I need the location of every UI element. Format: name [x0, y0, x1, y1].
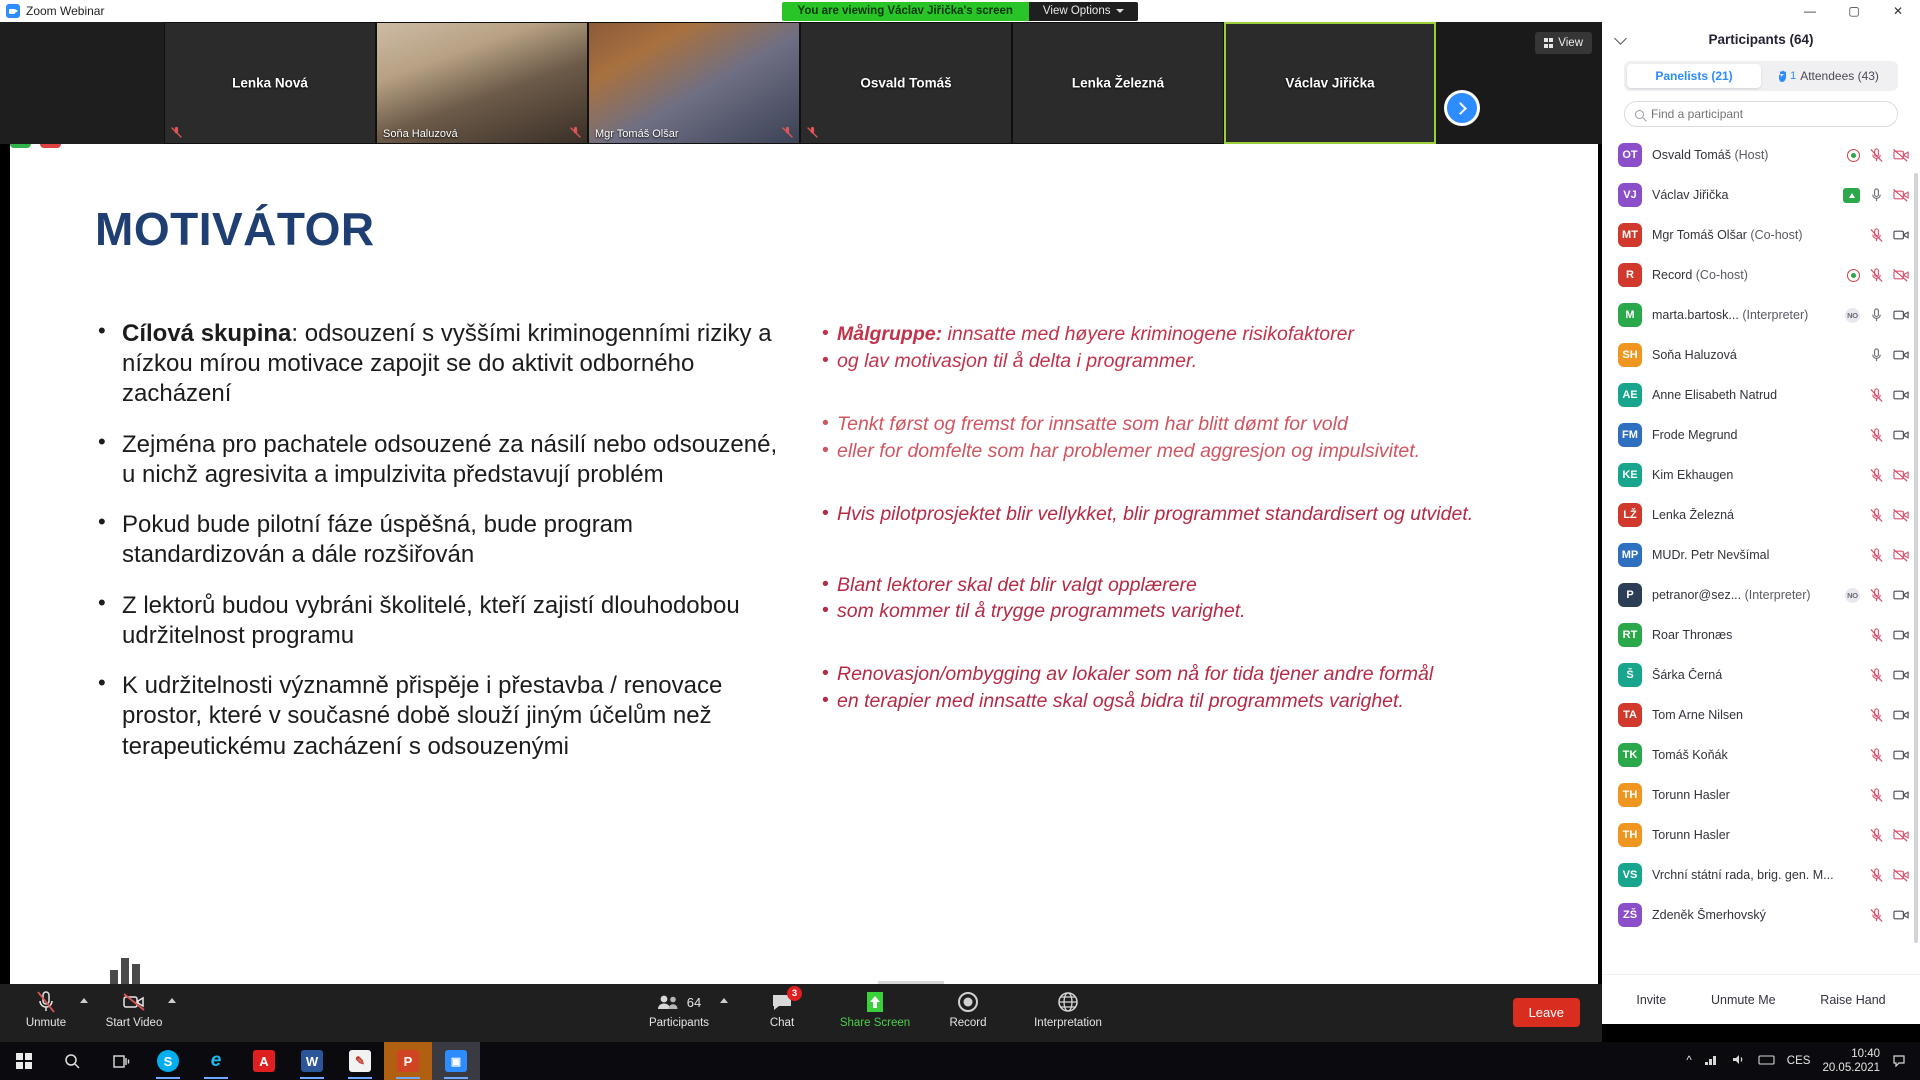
participant-name: Tomáš Koňák	[1652, 748, 1859, 762]
participant-status-icons	[1869, 428, 1908, 442]
share-screen-icon	[864, 990, 886, 1014]
chat-button[interactable]: 3 Chat	[750, 984, 814, 1029]
participant-row[interactable]: RTRoar Thronæs	[1602, 615, 1920, 655]
participant-name: Mgr Tomáš Olšar (Co-host)	[1652, 228, 1859, 242]
windows-start-icon[interactable]	[0, 1042, 48, 1080]
participant-name: Soňa Haluzová	[1652, 348, 1859, 362]
video-on-icon[interactable]	[1893, 348, 1908, 362]
avatar: TA	[1618, 703, 1642, 727]
chat-label: Chat	[770, 1017, 794, 1029]
participant-row[interactable]: MTMgr Tomáš Olšar (Co-host)	[1602, 215, 1920, 255]
record-label: Record	[949, 1017, 986, 1029]
video-off-icon[interactable]	[1893, 188, 1908, 202]
mic-on-icon[interactable]	[1869, 348, 1884, 362]
participant-row[interactable]: LŽLenka Železná	[1602, 495, 1920, 535]
language-indicator[interactable]: CES	[1787, 1055, 1811, 1067]
participant-row[interactable]: OTOsvald Tomáš (Host)	[1602, 135, 1920, 175]
interpreter-language-chip: NO	[1845, 588, 1860, 603]
avatar: ZŠ	[1618, 903, 1642, 927]
mic-muted-icon	[569, 126, 582, 139]
translation-line: Blant lektorer skal det blir valgt opplæ…	[822, 572, 1552, 599]
participant-role: (Interpreter)	[1739, 308, 1808, 322]
participants-icon: 64	[657, 990, 701, 1014]
grid-view-icon	[1544, 38, 1554, 48]
record-button[interactable]: Record	[936, 984, 1000, 1029]
avatar: VS	[1618, 863, 1642, 887]
mic-muted-icon[interactable]	[1869, 788, 1884, 802]
toolbar-left-group: Unmute Start Video	[14, 984, 176, 1029]
minimize-button[interactable]: —	[1788, 0, 1832, 22]
participant-row[interactable]: FMFrode Megrund	[1602, 415, 1920, 455]
view-options-button[interactable]: View Options	[1029, 2, 1139, 21]
translation-group: Målgruppe: innsatte med høyere kriminoge…	[822, 321, 1552, 375]
network-icon[interactable]	[1704, 1053, 1719, 1069]
volume-icon[interactable]	[1731, 1053, 1746, 1069]
translation-line: Målgruppe: innsatte med høyere kriminoge…	[822, 321, 1552, 348]
video-off-icon[interactable]	[1893, 828, 1908, 842]
tab-panelists[interactable]: Panelists (21)	[1627, 64, 1761, 88]
participant-row[interactable]: VSVrchní státní rada, brig. gen. M...	[1602, 855, 1920, 895]
translation-group: Blant lektorer skal det blir valgt opplæ…	[822, 572, 1552, 626]
participants-panel-title: Participants (64)	[1708, 32, 1813, 47]
video-off-icon	[122, 990, 146, 1014]
participant-row[interactable]: Ppetranor@sez... (Interpreter)NO	[1602, 575, 1920, 615]
mic-muted-icon[interactable]	[1869, 628, 1884, 642]
video-tile-osvald-tomas[interactable]: Osvald Tomáš	[800, 22, 1012, 144]
translation-line: som kommer til å trygge programmets vari…	[822, 598, 1552, 625]
video-on-icon[interactable]	[1893, 588, 1908, 602]
slide-norwegian-translation: Målgruppe: innsatte med høyere kriminoge…	[822, 321, 1552, 751]
invite-button[interactable]: Invite	[1624, 987, 1678, 1013]
participants-tabs: Panelists (21) 1 Attendees (43)	[1624, 61, 1898, 91]
participant-row[interactable]: KEKim Ekhaugen	[1602, 455, 1920, 495]
video-tile-name: Lenka Nová	[165, 76, 375, 91]
start-video-label: Start Video	[106, 1017, 163, 1029]
translation-group: Renovasjon/ombygging av lokaler som nå f…	[822, 661, 1552, 715]
translation-line: Hvis pilotprosjektet blir vellykket, bli…	[822, 501, 1552, 528]
video-tile-name: Osvald Tomáš	[801, 76, 1011, 91]
toolbar-center-group: 64 Participants 3 Chat	[640, 984, 1114, 1029]
avatar: RT	[1618, 623, 1642, 647]
screen-share-banner: You are viewing Václav Jiřička's screen …	[0, 0, 1920, 22]
translation-group: Hvis pilotprosjektet blir vellykket, bli…	[822, 501, 1552, 528]
participant-status-icons	[1869, 628, 1908, 642]
clock-date: 20.05.2021	[1822, 1061, 1880, 1075]
mic-muted-icon[interactable]	[1869, 548, 1884, 562]
list-item: Cílová skupina: odsouzení s vyššími krim…	[92, 319, 782, 410]
clock-time: 10:40	[1822, 1047, 1880, 1061]
video-on-icon[interactable]	[1893, 788, 1908, 802]
bullet-lead: Cílová skupina	[122, 320, 291, 347]
avatar: M	[1618, 303, 1642, 327]
search-input[interactable]	[1651, 107, 1887, 121]
shared-screen-area[interactable]: ✓ ⊘ MOTIVÁTOR Cílová skupina: odsouzení …	[10, 144, 1598, 986]
mic-muted-icon[interactable]	[1869, 428, 1884, 442]
participant-row[interactable]: THTorunn Hasler	[1602, 815, 1920, 855]
video-on-icon[interactable]	[1893, 388, 1908, 402]
stop-circle-icon[interactable]: ⊘	[40, 144, 61, 148]
bullet-text: Pokud bude pilotní fáze úspěšná, bude pr…	[122, 511, 633, 568]
view-options-label: View Options	[1043, 5, 1111, 17]
interpreter-language-chip: NO	[1845, 308, 1860, 323]
participant-row[interactable]: THTorunn Hasler	[1602, 775, 1920, 815]
close-button[interactable]: ✕	[1876, 0, 1920, 22]
system-tray: ^ CES 10:40 20.05.2021	[1686, 1042, 1920, 1080]
participant-status-icons	[1869, 468, 1908, 482]
translation-lead: Målgruppe:	[837, 323, 942, 345]
participant-status-icons	[1869, 668, 1908, 682]
slide-czech-bullets: Cílová skupina: odsouzení s vyššími krim…	[92, 319, 782, 782]
avatar: MP	[1618, 543, 1642, 567]
raise-hand-icon: 1	[1777, 70, 1796, 83]
mic-on-icon[interactable]	[1869, 188, 1884, 202]
translation-line: eller for domfelte som har problemer med…	[822, 438, 1552, 465]
participant-status-icons	[1869, 828, 1908, 842]
participant-status-icons	[1869, 868, 1908, 882]
taskbar-adobe-reader-icon[interactable]: A	[240, 1042, 288, 1080]
unmute-label: Unmute	[26, 1017, 66, 1029]
avatar: SH	[1618, 343, 1642, 367]
mic-muted-icon[interactable]	[1869, 148, 1884, 162]
interpretation-button[interactable]: Interpretation	[1022, 984, 1114, 1029]
tab-attendees[interactable]: 1 Attendees (43)	[1761, 64, 1895, 88]
chevron-down-icon	[1116, 9, 1124, 13]
search-participant-field[interactable]	[1624, 101, 1898, 127]
video-on-icon[interactable]	[1893, 668, 1908, 682]
start-video-button[interactable]: Start Video	[102, 984, 166, 1029]
participants-panel: Participants (64) Panelists (21) 1 Atten…	[1602, 22, 1920, 1024]
mic-muted-icon[interactable]	[1869, 468, 1884, 482]
video-on-icon[interactable]	[1893, 908, 1908, 922]
clock[interactable]: 10:40 20.05.2021	[1822, 1047, 1880, 1076]
share-screen-label: Share Screen	[840, 1017, 910, 1029]
mic-muted-icon	[781, 126, 794, 139]
participant-status-icons	[1847, 148, 1908, 162]
notification-icon[interactable]	[1892, 1053, 1906, 1070]
participants-label: Participants	[649, 1017, 709, 1029]
list-item: Pokud bude pilotní fáze úspěšná, bude pr…	[92, 510, 782, 570]
unmute-me-button[interactable]: Unmute Me	[1699, 987, 1788, 1013]
participant-status-icons	[1869, 348, 1908, 362]
avatar: LŽ	[1618, 503, 1642, 527]
video-tile-vaclav-jiricka[interactable]: Václav Jiřička	[1224, 22, 1436, 144]
participant-name: Václav Jiřička	[1652, 188, 1833, 202]
annotation-toolbar[interactable]: ✓ ⊘	[10, 144, 61, 148]
avatar: AE	[1618, 383, 1642, 407]
check-circle-icon[interactable]: ✓	[10, 144, 31, 148]
translation-text: en terapier med innsatte skal også bidra…	[837, 690, 1404, 712]
participant-row[interactable]: TKTomáš Koňák	[1602, 735, 1920, 775]
participant-status-icons	[1869, 708, 1908, 722]
avatar: OT	[1618, 143, 1642, 167]
participant-name: Tom Arne Nilsen	[1652, 708, 1859, 722]
share-screen-button[interactable]: Share Screen	[836, 984, 914, 1029]
video-tile-name: Václav Jiřička	[1226, 76, 1434, 91]
mic-muted-icon[interactable]	[1869, 388, 1884, 402]
keyboard-icon[interactable]	[1758, 1054, 1775, 1069]
participants-scrollbar[interactable]	[1914, 173, 1918, 943]
participant-row[interactable]: ZŠZdeněk Šmerhovský	[1602, 895, 1920, 935]
maximize-button[interactable]: ▢	[1832, 0, 1876, 22]
participant-status-icons	[1847, 268, 1908, 282]
screen-sharing-icon	[1843, 188, 1860, 203]
translation-line: Renovasjon/ombygging av lokaler som nå f…	[822, 661, 1552, 688]
view-button-label: View	[1558, 37, 1583, 49]
translation-line: en terapier med innsatte skal også bidra…	[822, 688, 1552, 715]
chat-unread-badge: 3	[787, 986, 802, 1001]
viewing-banner-text: You are viewing Václav Jiřička's screen	[782, 2, 1029, 21]
translation-text: innsatte med høyere kriminogene risikofa…	[942, 323, 1354, 345]
mic-muted-icon[interactable]	[1869, 268, 1884, 282]
participant-row[interactable]: MPMUDr. Petr Nevšímal	[1602, 535, 1920, 575]
strip-left-pad	[0, 22, 164, 144]
video-tile-name: Mgr Tomáš Olšar	[595, 128, 799, 140]
video-feed	[377, 23, 587, 143]
video-off-icon[interactable]	[1893, 508, 1908, 522]
raise-hand-button[interactable]: Raise Hand	[1808, 987, 1897, 1013]
globe-icon	[1057, 990, 1079, 1014]
title-bar: Zoom Webinar You are viewing Václav Jiři…	[0, 0, 1920, 22]
video-on-icon[interactable]	[1893, 308, 1908, 322]
avatar: TK	[1618, 743, 1642, 767]
taskbar-zoom-icon[interactable]: ▣	[432, 1042, 480, 1080]
video-tile-sona-haluzova[interactable]: Soňa Haluzová	[376, 22, 588, 144]
translation-line: Tenkt først og fremst for innsatte som h…	[822, 411, 1552, 438]
chat-icon: 3	[771, 990, 793, 1014]
participant-name: Torunn Hasler	[1652, 828, 1859, 842]
participant-name: petranor@sez... (Interpreter)	[1652, 588, 1835, 602]
bullet-text: K udržitelnosti významně přispěje i přes…	[122, 672, 722, 759]
meeting-toolbar: Unmute Start Video	[0, 984, 1602, 1042]
video-tile-tomas-olsar[interactable]: Mgr Tomáš Olšar	[588, 22, 800, 144]
video-tile-lenka-nova[interactable]: Lenka Nová	[164, 22, 376, 144]
mic-muted-icon[interactable]	[1869, 828, 1884, 842]
participant-status-icons	[1869, 388, 1908, 402]
mic-muted-icon[interactable]	[1869, 708, 1884, 722]
participant-name: Šárka Černá	[1652, 668, 1859, 682]
participants-count: 64	[687, 995, 701, 1010]
leave-button[interactable]: Leave	[1513, 998, 1580, 1027]
participant-row[interactable]: RRecord (Co-host)	[1602, 255, 1920, 295]
video-thumbnail-strip: Lenka Nová Soňa Haluzová Mgr Tomáš Olšar	[0, 22, 1602, 144]
participant-name: Osvald Tomáš (Host)	[1652, 148, 1837, 162]
video-off-icon[interactable]	[1893, 468, 1908, 482]
mic-muted-icon[interactable]	[1869, 868, 1884, 882]
participant-status-icons	[1843, 188, 1908, 203]
participant-status-icons	[1869, 228, 1908, 242]
search-icon[interactable]	[48, 1042, 96, 1080]
video-off-icon[interactable]	[1893, 268, 1908, 282]
avatar: VJ	[1618, 183, 1642, 207]
taskbar-powerpoint-icon[interactable]: P	[384, 1042, 432, 1080]
participant-status-icons	[1869, 748, 1908, 762]
avatar: MT	[1618, 223, 1642, 247]
video-off-icon[interactable]	[1893, 548, 1908, 562]
video-on-icon[interactable]	[1893, 428, 1908, 442]
video-on-icon[interactable]	[1893, 708, 1908, 722]
window-controls: — ▢ ✕	[1788, 0, 1920, 22]
participants-list[interactable]: OTOsvald Tomáš (Host)VJVáclav JiřičkaMTM…	[1602, 133, 1920, 974]
participant-name: Torunn Hasler	[1652, 788, 1859, 802]
list-item: Z lektorů budou vybráni školitelé, kteří…	[92, 591, 782, 651]
recording-indicator-icon	[1847, 149, 1860, 162]
task-view-icon[interactable]	[96, 1042, 144, 1080]
participant-status-icons	[1869, 548, 1908, 562]
participant-name: Vrchní státní rada, brig. gen. M...	[1652, 868, 1859, 882]
translation-text: Tenkt først og fremst for innsatte som h…	[837, 413, 1348, 435]
list-item: Zejména pro pachatele odsouzené za násil…	[92, 430, 782, 490]
participant-row[interactable]: TATom Arne Nilsen	[1602, 695, 1920, 735]
taskbar-word-icon[interactable]: W	[288, 1042, 336, 1080]
avatar: TH	[1618, 823, 1642, 847]
participant-name: marta.bartosk... (Interpreter)	[1652, 308, 1835, 322]
participants-panel-header: Participants (64)	[1602, 22, 1920, 56]
chevron-right-icon	[1454, 102, 1467, 115]
taskbar-skype-icon[interactable]: S	[144, 1042, 192, 1080]
unmute-button[interactable]: Unmute	[14, 984, 78, 1029]
list-item: K udržitelnosti významně přispěje i přes…	[92, 671, 782, 762]
translation-text: og lav motivasjon til å delta i programm…	[837, 350, 1197, 372]
video-on-icon[interactable]	[1893, 228, 1908, 242]
participant-status-icons: NO	[1845, 308, 1908, 323]
participant-name: Zdeněk Šmerhovský	[1652, 908, 1859, 922]
participant-status-icons	[1869, 508, 1908, 522]
participant-name: MUDr. Petr Nevšímal	[1652, 548, 1859, 562]
participant-role: (Host)	[1731, 148, 1769, 162]
participant-status-icons: NO	[1845, 588, 1908, 603]
record-icon	[957, 990, 979, 1014]
participant-name: Kim Ekhaugen	[1652, 468, 1859, 482]
mic-muted-icon[interactable]	[1869, 748, 1884, 762]
video-on-icon[interactable]	[1893, 628, 1908, 642]
chevron-up-icon[interactable]: ^	[1686, 1055, 1691, 1067]
view-layout-button[interactable]: View	[1535, 32, 1592, 54]
taskbar-internet-explorer-icon[interactable]: e	[192, 1042, 240, 1080]
avatar: TH	[1618, 783, 1642, 807]
translation-line: og lav motivasjon til å delta i programm…	[822, 348, 1552, 375]
mic-muted-icon[interactable]	[1869, 228, 1884, 242]
avatar: KE	[1618, 463, 1642, 487]
participant-role: (Interpreter)	[1741, 588, 1810, 602]
participant-name: Record (Co-host)	[1652, 268, 1837, 282]
translation-text: Blant lektorer skal det blir valgt opplæ…	[837, 574, 1197, 596]
mic-muted-icon[interactable]	[1869, 908, 1884, 922]
participant-status-icons	[1869, 788, 1908, 802]
mic-muted-icon[interactable]	[1869, 668, 1884, 682]
mic-muted-icon[interactable]	[1869, 508, 1884, 522]
participant-role: (Co-host)	[1692, 268, 1748, 282]
video-tile-lenka-zelezna[interactable]: Lenka Železná	[1012, 22, 1224, 144]
chart-icon	[110, 952, 146, 986]
participants-panel-footer: Invite Unmute Me Raise Hand	[1602, 974, 1920, 1024]
participants-button[interactable]: 64 Participants	[640, 984, 718, 1029]
video-off-icon[interactable]	[1893, 148, 1908, 162]
interpretation-label: Interpretation	[1034, 1017, 1102, 1029]
zoom-webinar-window: Zoom Webinar You are viewing Václav Jiři…	[0, 0, 1920, 1080]
video-options-caret-icon[interactable]	[168, 998, 176, 1003]
avatar: P	[1618, 583, 1642, 607]
participants-caret-icon[interactable]	[720, 998, 728, 1003]
participant-name: Frode Megrund	[1652, 428, 1859, 442]
video-tile-name: Soňa Haluzová	[383, 128, 587, 140]
avatar: R	[1618, 263, 1642, 287]
video-on-icon[interactable]	[1893, 748, 1908, 762]
participant-status-icons	[1869, 908, 1908, 922]
mic-muted-icon	[170, 126, 183, 139]
search-icon	[1635, 110, 1644, 119]
translation-text: Hvis pilotprosjektet blir vellykket, bli…	[837, 503, 1473, 525]
participant-name: Lenka Železná	[1652, 508, 1859, 522]
video-off-icon[interactable]	[1893, 868, 1908, 882]
translation-text: som kommer til å trygge programmets vari…	[837, 600, 1246, 622]
mic-muted-icon	[806, 126, 819, 139]
participant-row[interactable]: SHSoňa Haluzová	[1602, 335, 1920, 375]
bullet-text: Z lektorů budou vybráni školitelé, kteří…	[122, 592, 740, 649]
mic-on-icon[interactable]	[1869, 308, 1884, 322]
slide-title: MOTIVÁTOR	[95, 202, 375, 256]
translation-text: Renovasjon/ombygging av lokaler som nå f…	[837, 663, 1433, 685]
participant-row[interactable]: VJVáclav Jiřička	[1602, 175, 1920, 215]
translation-group: Tenkt først og fremst for innsatte som h…	[822, 411, 1552, 465]
participant-role: (Co-host)	[1747, 228, 1803, 242]
tab-attendees-label: Attendees (43)	[1800, 69, 1879, 83]
next-page-button[interactable]	[1444, 90, 1480, 126]
avatar: FM	[1618, 423, 1642, 447]
mic-muted-icon[interactable]	[1869, 588, 1884, 602]
recording-indicator-icon	[1847, 269, 1860, 282]
chevron-down-icon[interactable]	[1614, 32, 1627, 45]
participant-name: Roar Thronæs	[1652, 628, 1859, 642]
participant-row[interactable]: AEAnne Elisabeth Natrud	[1602, 375, 1920, 415]
bullet-text: Zejména pro pachatele odsouzené za násil…	[122, 431, 777, 488]
participant-row[interactable]: Mmarta.bartosk... (Interpreter)NO	[1602, 295, 1920, 335]
windows-taskbar: S e A W ✎ P ▣ ^ CES 10:40 20.05.2021	[0, 1042, 1920, 1080]
mic-options-caret-icon[interactable]	[80, 998, 88, 1003]
mic-muted-icon	[36, 990, 56, 1014]
raise-hand-count: 1	[1790, 70, 1796, 82]
participant-name: Anne Elisabeth Natrud	[1652, 388, 1859, 402]
video-feed	[589, 23, 799, 143]
translation-text: eller for domfelte som har problemer med…	[837, 440, 1420, 462]
participant-row[interactable]: ŠŠárka Černá	[1602, 655, 1920, 695]
tab-panelists-label: Panelists (21)	[1655, 69, 1732, 83]
taskbar-paint-icon[interactable]: ✎	[336, 1042, 384, 1080]
avatar: Š	[1618, 663, 1642, 687]
video-tile-name: Lenka Železná	[1013, 76, 1223, 91]
